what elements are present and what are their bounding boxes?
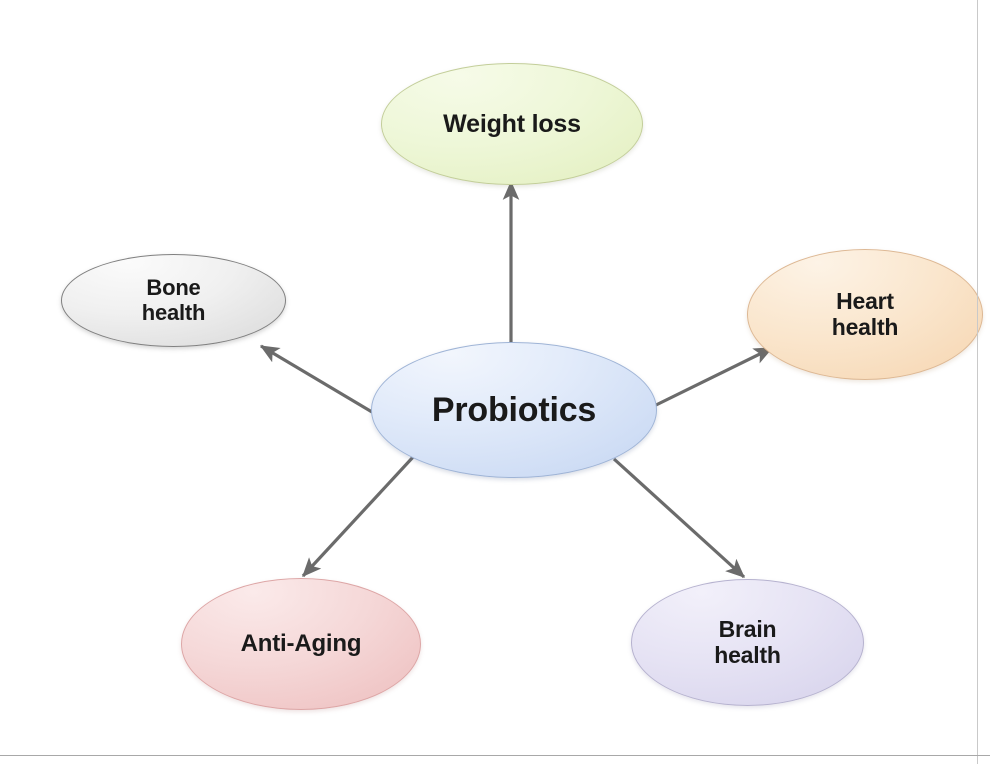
- node-bone-health[interactable]: Bone health: [61, 254, 286, 347]
- edge-heart-health: [654, 348, 772, 406]
- page-border-right: [977, 0, 978, 764]
- edge-bone-health: [261, 346, 372, 412]
- edge-anti-aging: [303, 456, 414, 576]
- page-border-bottom: [0, 755, 990, 756]
- node-anti-aging[interactable]: Anti-Aging: [181, 578, 421, 710]
- node-probiotics-center[interactable]: Probiotics: [371, 342, 657, 478]
- node-weight-loss[interactable]: Weight loss: [381, 63, 643, 185]
- node-brain-health[interactable]: Brain health: [631, 579, 864, 706]
- node-heart-health[interactable]: Heart health: [747, 249, 983, 380]
- diagram-canvas: Weight loss Bone health Heart health Pro…: [0, 0, 990, 764]
- edge-brain-health: [614, 459, 744, 577]
